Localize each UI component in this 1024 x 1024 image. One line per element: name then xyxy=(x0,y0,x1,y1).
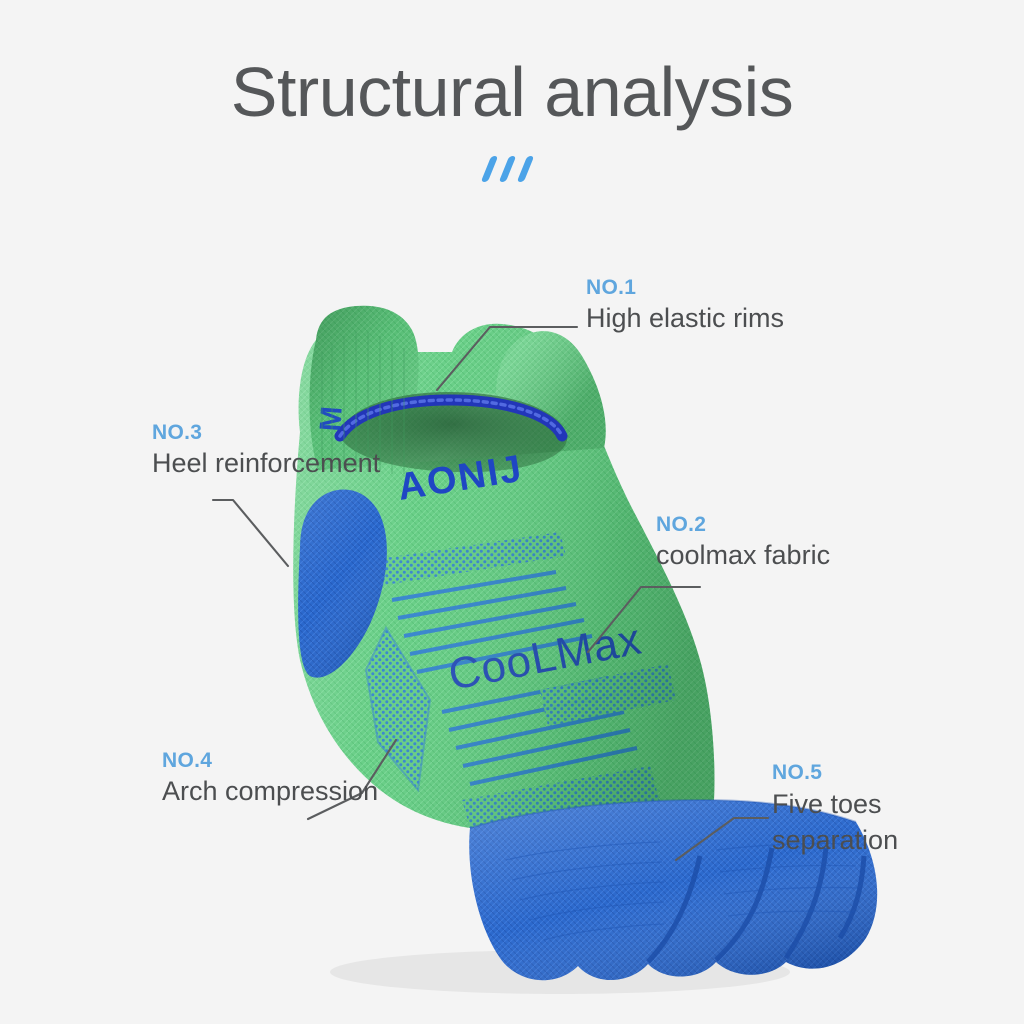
callout-no5: NO.5 Five toes separation xyxy=(772,760,898,858)
callout-no3-caption: Heel reinforcement xyxy=(152,446,380,480)
callout-no3-number: NO.3 xyxy=(152,420,380,446)
callout-no2-caption: coolmax fabric xyxy=(656,538,830,572)
callout-no4-caption: Arch compression xyxy=(162,774,378,808)
callout-no5-number: NO.5 xyxy=(772,760,898,786)
callout-no5-caption-line1: Five toes xyxy=(772,786,898,822)
callout-no1-number: NO.1 xyxy=(586,275,784,301)
callout-no3: NO.3 Heel reinforcement xyxy=(152,420,380,480)
infographic-canvas: Structural analysis xyxy=(0,0,1024,1024)
callout-no5-caption-line2: separation xyxy=(772,822,898,858)
callout-no1-caption: High elastic rims xyxy=(586,301,784,335)
callout-no2-number: NO.2 xyxy=(656,512,830,538)
callout-no2: NO.2 coolmax fabric xyxy=(656,512,830,572)
product-image-sock: CooLMax AONIJ M xyxy=(0,0,1024,1024)
callout-no1: NO.1 High elastic rims xyxy=(586,275,784,335)
callout-no4-number: NO.4 xyxy=(162,748,378,774)
callout-no4: NO.4 Arch compression xyxy=(162,748,378,808)
